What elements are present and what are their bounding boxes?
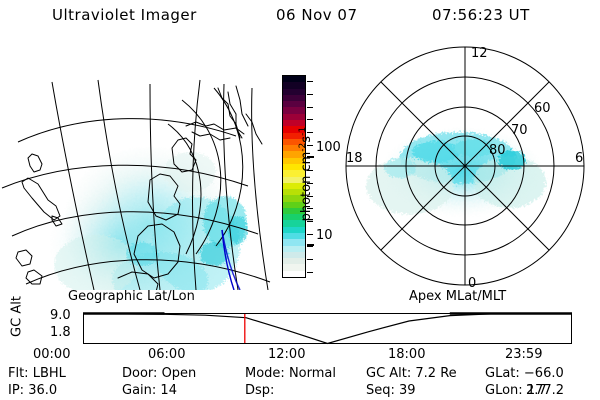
ip-label: IP: — [8, 383, 24, 398]
apex-panel-caption: Apex MLat/MLT — [409, 289, 506, 304]
colorbar-unit-label: photon cm-2s-1 — [298, 94, 314, 254]
glon-label: GLon: — [485, 383, 523, 398]
status-door: Door: Open — [122, 366, 196, 381]
status-gc-alt: GC Alt: 7.2 Re — [366, 366, 457, 381]
status-seq: Seq: 39 — [366, 383, 416, 398]
mlt-label-6: 6 — [575, 151, 583, 166]
observation-date: 06 Nov 07 — [276, 6, 358, 24]
aurora-emission-overlay — [50, 147, 248, 308]
filter-label: Flt: — [8, 366, 29, 381]
glat-label: GLat: — [485, 366, 520, 381]
gain-value: 14 — [160, 383, 177, 398]
geographic-plot[interactable] — [0, 40, 272, 290]
mlat-label-70: 70 — [511, 123, 528, 138]
observation-time: 07:56:23 UT — [432, 6, 530, 24]
colorbar-tick-label-100: 100 — [316, 140, 341, 155]
status-ip: IP: 36.0 — [8, 383, 57, 398]
status-filter: Flt: LBHL — [8, 366, 66, 381]
dsp-label: Dsp: — [245, 383, 274, 398]
altitude-curve-plot[interactable] — [83, 313, 572, 344]
gc-alt-label: GC Alt: — [366, 366, 411, 381]
apex-polar-plot[interactable]: 12 6 0 18 60 70 80 — [340, 40, 598, 292]
apex-polar-grid — [346, 47, 584, 285]
ip-value: 36.0 — [28, 383, 57, 398]
gain-label: Gain: — [122, 383, 156, 398]
colorbar-band — [283, 271, 305, 277]
mlat-label-80: 80 — [489, 143, 506, 158]
geographic-panel-caption: Geographic Lat/Lon — [68, 289, 195, 304]
status-dsp: Dsp: 2.7 — [245, 383, 274, 398]
unit-exponent-1: -2 — [298, 143, 308, 152]
intensity-colorbar[interactable]: 100 10 photon cm-2s-1 — [278, 66, 338, 291]
filter-value: LBHL — [33, 366, 66, 381]
header-bar: Ultraviolet Imager 06 Nov 07 07:56:23 UT — [0, 6, 600, 30]
colorbar-minor-tick — [307, 259, 313, 260]
gc-alt-value: 7.2 Re — [415, 366, 456, 381]
strip-y-max-label: 9.0 — [50, 308, 71, 323]
colorbar-minor-tick — [307, 81, 313, 82]
time-tick-1200: 12:00 — [268, 347, 305, 362]
colorbar-minor-tick — [307, 272, 313, 273]
mlt-label-18: 18 — [346, 151, 363, 166]
time-tick-0000: 00:00 — [33, 347, 70, 362]
geographic-image-panel[interactable] — [0, 40, 272, 290]
orbit-altitude-strip[interactable]: GC Alt 9.0 1.8 00:00 06:00 12:00 18:00 2… — [0, 303, 600, 359]
unit-exponent-2: -1 — [298, 127, 308, 136]
strip-y-axis-label: GC Alt — [10, 289, 25, 345]
time-tick-0600: 06:00 — [148, 347, 185, 362]
status-mode: Mode: Normal — [245, 366, 336, 381]
status-glon: GLon: 177.2 — [485, 383, 564, 398]
time-tick-2359: 23:59 — [505, 347, 542, 362]
status-gain: Gain: 14 — [122, 383, 177, 398]
strip-y-min-label: 1.8 — [50, 325, 71, 340]
status-footer: Flt: LBHL IP: 36.0 Door: Open Gain: 14 M… — [0, 366, 600, 400]
door-value: Open — [162, 366, 197, 381]
mlat-label-60: 60 — [534, 101, 551, 116]
apex-polar-panel[interactable]: 12 6 0 18 60 70 80 — [340, 40, 598, 292]
unit-prefix: photon cm — [299, 152, 314, 222]
time-tick-1800: 18:00 — [388, 347, 425, 362]
glon-value: 177.2 — [527, 383, 564, 398]
glat-value: −66.0 — [524, 366, 564, 381]
mode-value: Normal — [289, 366, 336, 381]
door-label: Door: — [122, 366, 157, 381]
status-glat: GLat: −66.0 — [485, 366, 564, 381]
unit-mid: s — [299, 136, 314, 143]
mode-label: Mode: — [245, 366, 285, 381]
seq-value: 39 — [399, 383, 416, 398]
instrument-title: Ultraviolet Imager — [52, 6, 197, 24]
mlt-label-12: 12 — [471, 46, 488, 61]
seq-label: Seq: — [366, 383, 395, 398]
colorbar-tick-label-10: 10 — [316, 228, 333, 243]
